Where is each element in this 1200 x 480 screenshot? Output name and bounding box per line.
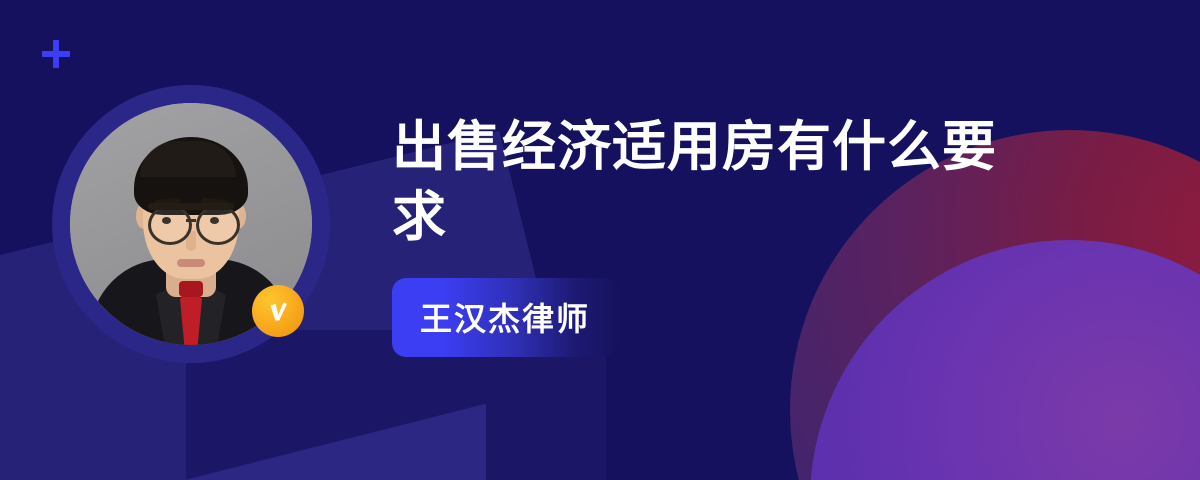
- portrait-glasses-bridge: [186, 219, 196, 222]
- portrait-glasses-lens-right: [196, 205, 240, 245]
- verified-badge-icon: [252, 285, 304, 337]
- plus-icon: [42, 40, 70, 68]
- lawyer-name-chip[interactable]: 王汉杰律师: [392, 278, 618, 357]
- decor-triangle-wedge: [186, 404, 486, 480]
- lawyer-question-banner: 出售经济适用房有什么要求 王汉杰律师: [0, 0, 1200, 480]
- portrait-glasses-browline: [148, 203, 234, 210]
- portrait-necktie-knot: [179, 281, 203, 297]
- text-content: 出售经济适用房有什么要求 王汉杰律师: [392, 112, 1032, 357]
- avatar: [52, 85, 330, 363]
- portrait-mouth: [177, 259, 205, 267]
- page-title: 出售经济适用房有什么要求: [392, 112, 1032, 252]
- portrait-glasses-lens-left: [148, 205, 192, 245]
